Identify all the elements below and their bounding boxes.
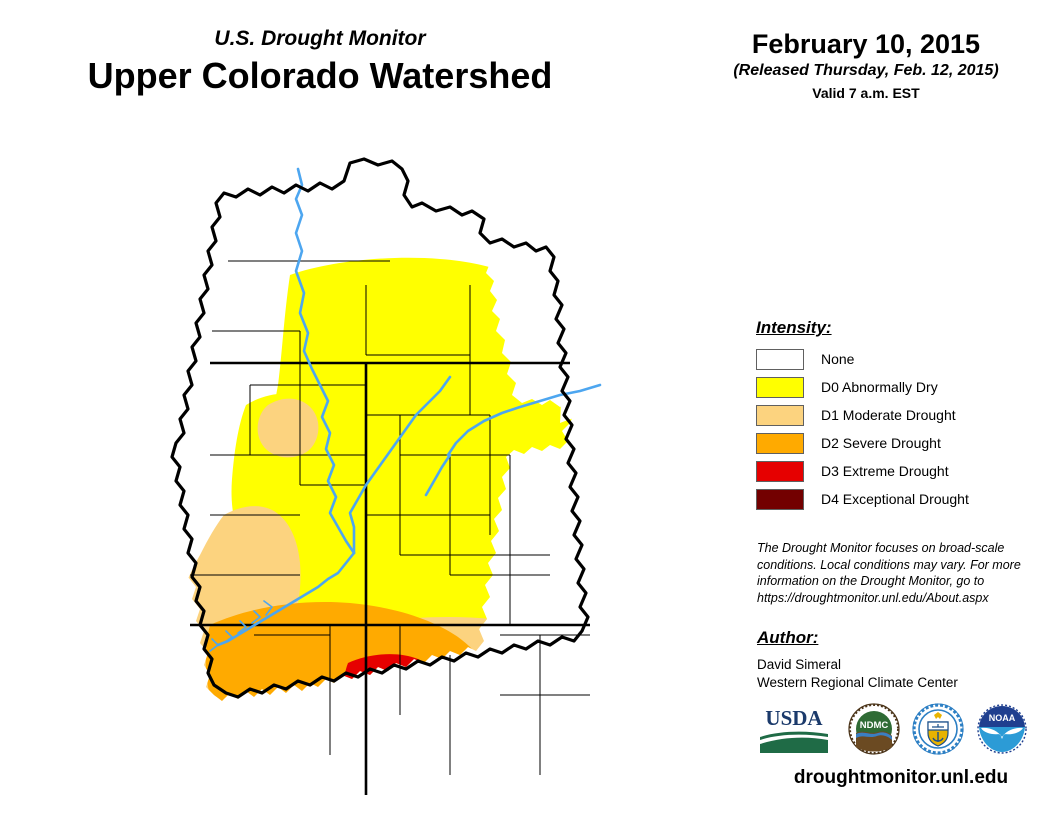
legend-title: Intensity: bbox=[756, 318, 1046, 338]
legend-label-none: None bbox=[821, 351, 854, 367]
legend-label-d1: D1 Moderate Drought bbox=[821, 407, 956, 423]
drought-map[interactable] bbox=[150, 155, 610, 795]
disclaimer-line-2: conditions. Local conditions may vary. F… bbox=[757, 557, 1047, 574]
legend-swatch-d2 bbox=[756, 433, 804, 454]
disclaimer-text: The Drought Monitor focuses on broad-sca… bbox=[757, 540, 1047, 606]
noaa-logo-text: NOAA bbox=[989, 713, 1016, 723]
page-title: Upper Colorado Watershed bbox=[0, 54, 640, 98]
author-block: Author: David Simeral Western Regional C… bbox=[757, 628, 1047, 692]
legend-swatch-none bbox=[756, 349, 804, 370]
legend-label-d3: D3 Extreme Drought bbox=[821, 463, 949, 479]
usda-logo-text: USDA bbox=[765, 706, 823, 730]
legend-item-d4[interactable]: D4 Exceptional Drought bbox=[756, 486, 1046, 512]
legend-item-d3[interactable]: D3 Extreme Drought bbox=[756, 458, 1046, 484]
disclaimer-url[interactable]: https://droughtmonitor.unl.edu/About.asp… bbox=[757, 590, 1047, 607]
issue-date: February 10, 2015 bbox=[676, 28, 1056, 60]
legend-swatch-d1 bbox=[756, 405, 804, 426]
legend-label-d4: D4 Exceptional Drought bbox=[821, 491, 969, 507]
author-name: David Simeral bbox=[757, 656, 1047, 674]
legend-item-d2[interactable]: D2 Severe Drought bbox=[756, 430, 1046, 456]
ndmc-logo-text: NDMC bbox=[860, 720, 889, 731]
legend-swatch-d3 bbox=[756, 461, 804, 482]
agency-logos: USDA NDMC bbox=[756, 703, 1046, 761]
drought-area-d1-pocket bbox=[258, 399, 319, 458]
legend-item-d1[interactable]: D1 Moderate Drought bbox=[756, 402, 1046, 428]
disclaimer-line-3: information on the Drought Monitor, go t… bbox=[757, 573, 1047, 590]
legend-item-none[interactable]: None bbox=[756, 346, 1046, 372]
release-note: (Released Thursday, Feb. 12, 2015) bbox=[676, 60, 1056, 82]
author-affiliation: Western Regional Climate Center bbox=[757, 674, 1047, 692]
intensity-legend: Intensity: None D0 Abnormally Dry D1 Mod… bbox=[756, 318, 1046, 514]
usdc-seal bbox=[912, 703, 964, 755]
date-block: February 10, 2015 (Released Thursday, Fe… bbox=[676, 28, 1056, 103]
usda-logo: USDA bbox=[756, 703, 832, 755]
legend-swatch-d0 bbox=[756, 377, 804, 398]
noaa-logo: NOAA bbox=[976, 703, 1028, 755]
author-heading: Author: bbox=[757, 628, 1047, 648]
legend-label-d2: D2 Severe Drought bbox=[821, 435, 941, 451]
site-url[interactable]: droughtmonitor.unl.edu bbox=[756, 767, 1046, 789]
program-title: U.S. Drought Monitor bbox=[0, 26, 640, 52]
legend-swatch-d4 bbox=[756, 489, 804, 510]
title-block: U.S. Drought Monitor Upper Colorado Wate… bbox=[0, 26, 640, 98]
legend-item-d0[interactable]: D0 Abnormally Dry bbox=[756, 374, 1046, 400]
legend-label-d0: D0 Abnormally Dry bbox=[821, 379, 938, 395]
ndmc-logo: NDMC bbox=[848, 703, 900, 755]
disclaimer-line-1: The Drought Monitor focuses on broad-sca… bbox=[757, 540, 1047, 557]
drought-area-d2-southeast bbox=[445, 649, 602, 787]
valid-time: Valid 7 a.m. EST bbox=[676, 83, 1056, 103]
